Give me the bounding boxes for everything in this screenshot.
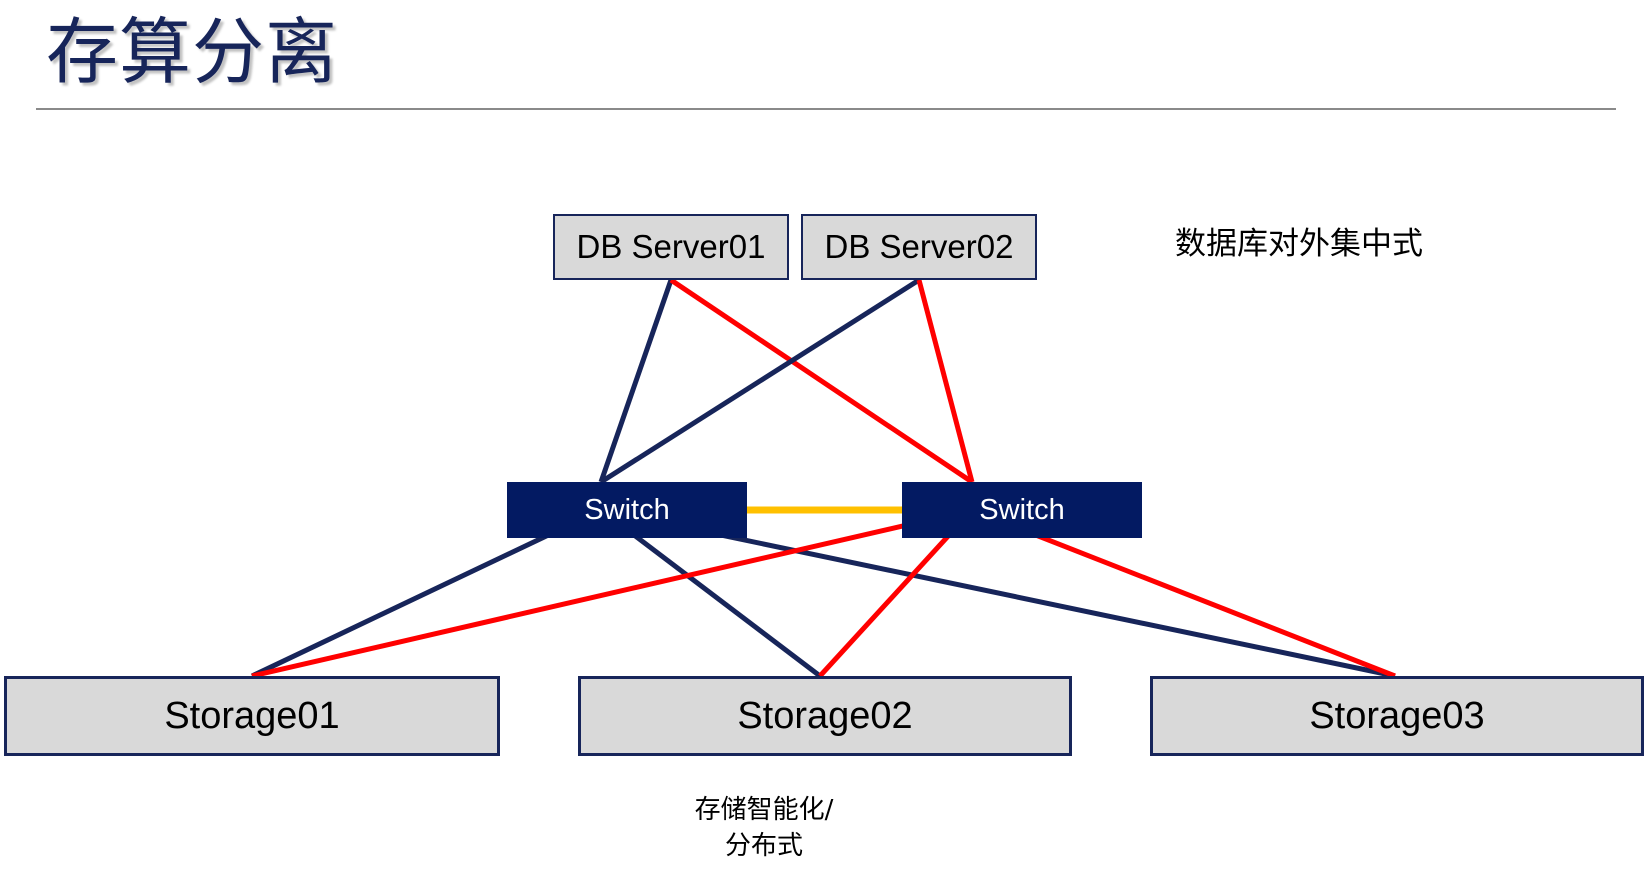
storage-tier-annotation: 存储智能化/ 分布式 xyxy=(624,792,904,864)
storage-02-box[interactable]: Storage02 xyxy=(578,676,1072,756)
storage-03-label: Storage03 xyxy=(1309,695,1484,738)
db-server-01-box[interactable]: DB Server01 xyxy=(553,214,789,280)
db-server-02-label: DB Server02 xyxy=(825,228,1014,266)
switch-left-label: Switch xyxy=(584,494,669,527)
storage-03-box[interactable]: Storage03 xyxy=(1150,676,1644,756)
link-db-server-01-to-switch-left xyxy=(601,280,671,482)
db-server-01-label: DB Server01 xyxy=(577,228,766,266)
storage-01-box[interactable]: Storage01 xyxy=(4,676,500,756)
storage-02-label: Storage02 xyxy=(737,695,912,738)
switch-right-label: Switch xyxy=(979,494,1064,527)
db-server-02-box[interactable]: DB Server02 xyxy=(801,214,1037,280)
slide-canvas: 存算分离 DB Server01 DB Server02 Switch Swit… xyxy=(0,0,1648,886)
db-tier-annotation: 数据库对外集中式 xyxy=(1175,222,1423,266)
storage-01-label: Storage01 xyxy=(164,695,339,738)
link-db-server-02-to-switch-left xyxy=(601,280,919,482)
switch-right-box[interactable]: Switch xyxy=(902,482,1142,538)
switch-left-box[interactable]: Switch xyxy=(507,482,747,538)
